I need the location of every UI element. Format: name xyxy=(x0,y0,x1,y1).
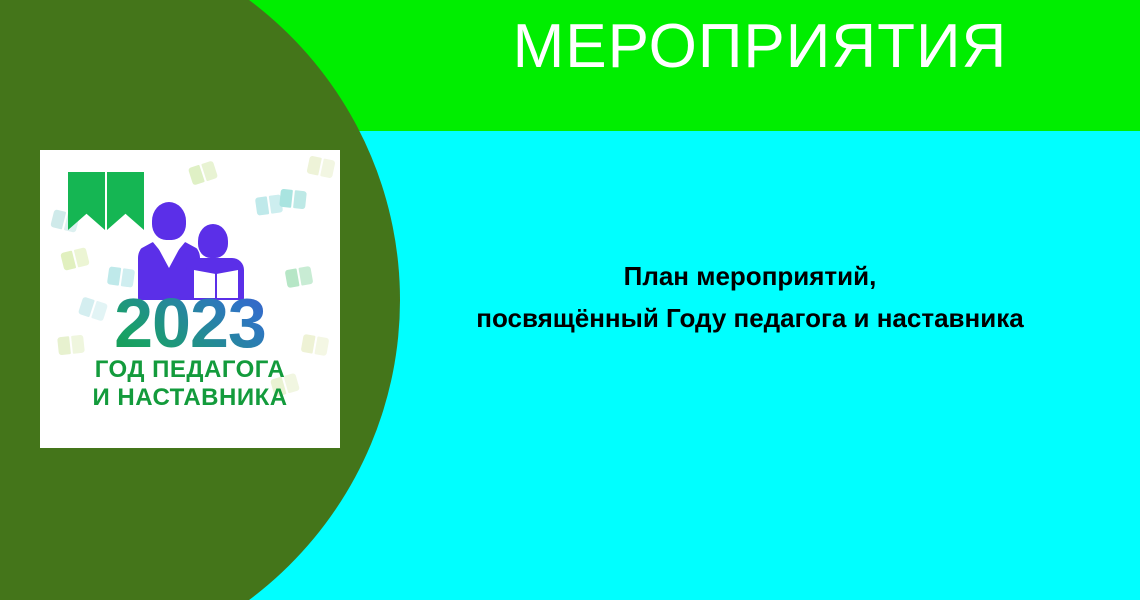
logo-caption-line-2: И НАСТАВНИКА xyxy=(40,385,340,412)
mini-book-left-page xyxy=(306,155,321,175)
mini-book-left-page xyxy=(107,266,121,285)
mini-book-2-icon xyxy=(306,155,335,178)
mini-book-right-page xyxy=(74,247,90,267)
mini-book-left-page xyxy=(285,268,300,288)
logo-artwork: 2023 ГОД ПЕДАГОГА И НАСТАВНИКА xyxy=(40,150,340,448)
mini-book-6-icon xyxy=(60,247,90,271)
slide-canvas: МЕРОПРИЯТИЯ План мероприятий, посвящённы… xyxy=(0,0,1140,600)
page-title: МЕРОПРИЯТИЯ xyxy=(380,16,1140,78)
main-description: План мероприятий, посвящённый Году педаг… xyxy=(400,255,1100,339)
open-book-icon xyxy=(68,172,144,230)
mini-book-8-icon xyxy=(285,266,314,288)
year-of-teacher-logo-card: 2023 ГОД ПЕДАГОГА И НАСТАВНИКА xyxy=(40,150,340,448)
logo-year: 2023 xyxy=(40,288,340,358)
logo-caption-line-1: ГОД ПЕДАГОГА xyxy=(40,357,340,384)
main-description-line-1: План мероприятий, xyxy=(400,255,1100,297)
mini-book-right-page xyxy=(298,266,313,286)
mini-book-right-page xyxy=(293,190,307,209)
mini-book-left-page xyxy=(255,196,269,215)
student-figure-icon xyxy=(198,224,228,258)
teacher-figure-icon xyxy=(152,202,186,240)
open-book-left-page xyxy=(68,172,105,230)
mini-book-right-page xyxy=(320,158,335,178)
mini-book-left-page xyxy=(279,189,293,208)
mini-book-1-icon xyxy=(188,160,218,185)
main-description-line-2: посвящённый Году педагога и наставника xyxy=(400,297,1100,339)
mini-book-4-icon xyxy=(279,189,307,210)
